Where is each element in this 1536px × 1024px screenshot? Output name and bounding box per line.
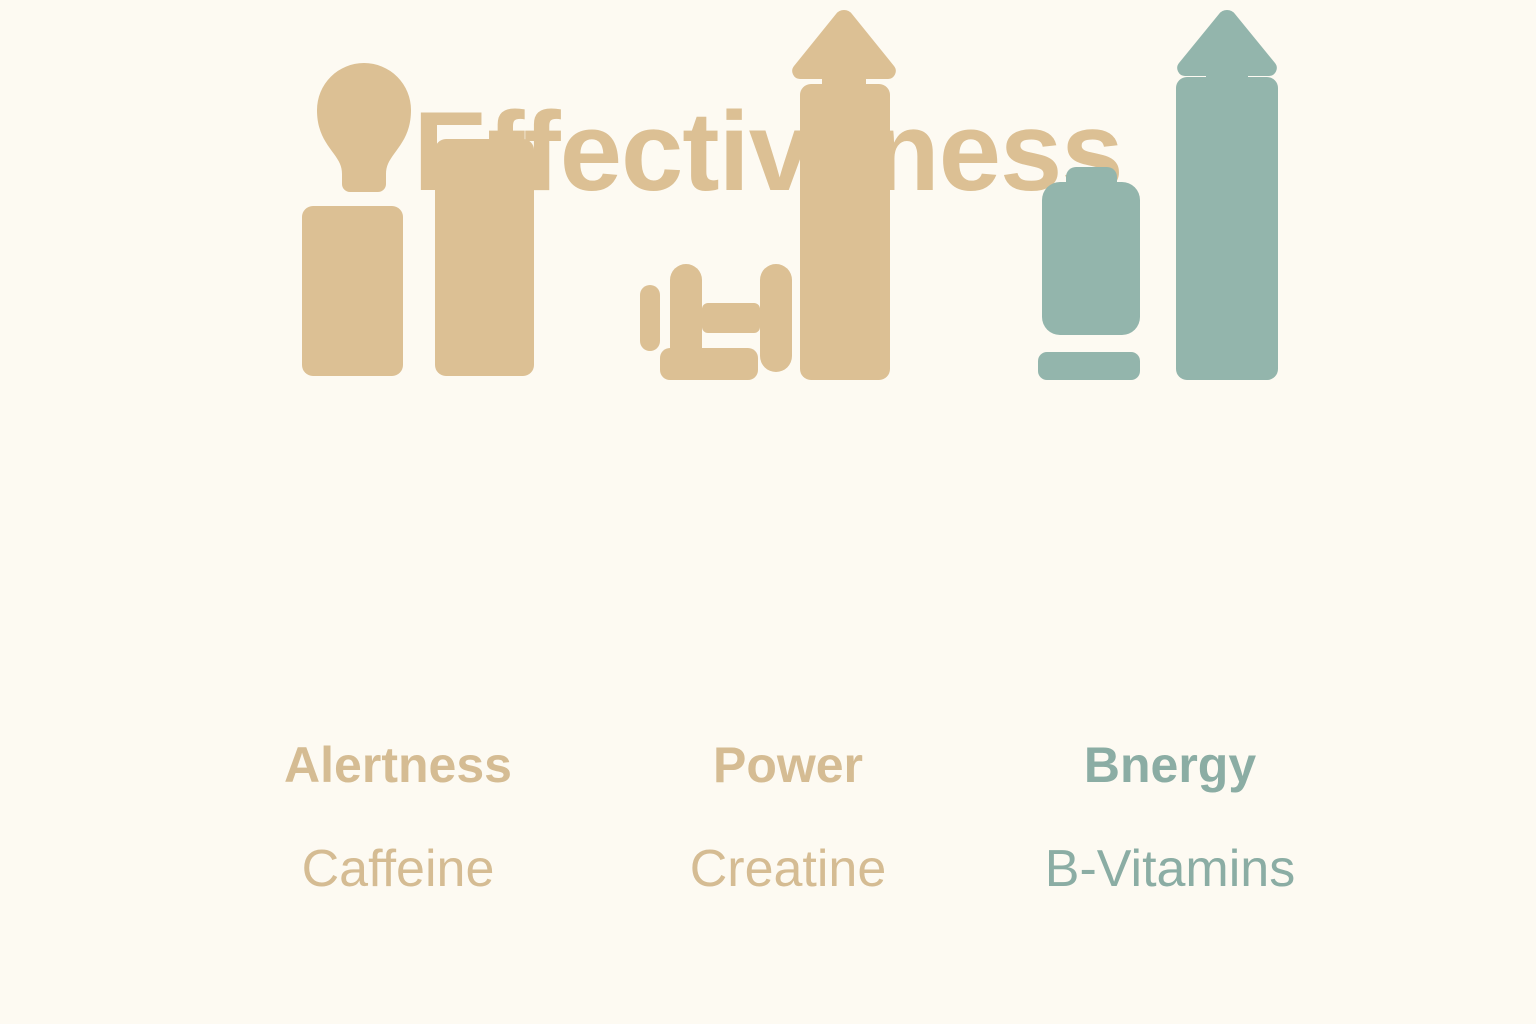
bar-bvitamins-effect (1176, 77, 1278, 380)
metric-label-bnergy: Bnergy (1000, 740, 1340, 790)
chart-column-bvitamins: Bnergy B-Vitamins (1000, 0, 1340, 1024)
source-label-creatine: Creatine (618, 843, 958, 895)
bar-caffeine-baseline (302, 206, 403, 376)
caffeine-graphic (228, 0, 568, 720)
bar-caffeine-effect (435, 139, 534, 376)
bvitamins-graphic (1000, 0, 1340, 720)
metric-label-power: Power (618, 740, 958, 790)
source-label-caffeine: Caffeine (228, 843, 568, 895)
lightbulb-icon (317, 63, 411, 192)
metric-label-alertness: Alertness (228, 740, 568, 790)
chart-column-creatine: Power Creatine (618, 0, 958, 1024)
battery-icon (1042, 167, 1140, 335)
bar-bvitamins-baseline (1038, 352, 1140, 380)
source-label-bvitamins: B-Vitamins (1000, 843, 1340, 895)
bar-creatine-baseline (660, 348, 758, 380)
creatine-graphic (618, 0, 958, 720)
bar-creatine-effect (800, 84, 890, 380)
chart-column-caffeine: Alertness Caffeine (228, 0, 568, 1024)
